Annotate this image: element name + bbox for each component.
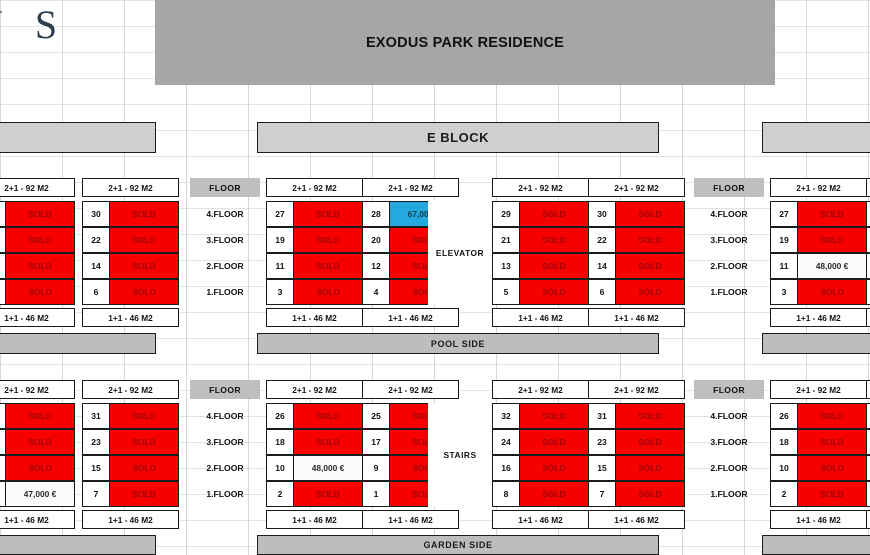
stairs-label: STAIRS xyxy=(428,403,492,507)
garden-strip-right xyxy=(762,535,870,555)
floor-label-cell: 2.FLOOR xyxy=(694,455,764,481)
unit-number-cell[interactable]: 15 xyxy=(82,455,110,481)
unit-number-cell[interactable]: 19 xyxy=(770,227,798,253)
unit-status-sold[interactable]: SOLD xyxy=(5,201,75,227)
unit-status-sold[interactable]: SOLD xyxy=(109,227,179,253)
unit-type-caption-large: 2+1 - 92 M2 xyxy=(362,380,459,399)
unit-type-caption-small: 1+1 - 46 M2 xyxy=(266,308,363,327)
unit-type-caption-large: 2+1 - 92 M2 xyxy=(0,178,75,197)
unit-number-cell[interactable]: 13 xyxy=(492,253,520,279)
unit-status-sold[interactable]: SOLD xyxy=(615,429,685,455)
unit-status-sold[interactable]: SOLD xyxy=(293,429,363,455)
unit-number-cell[interactable]: 12 xyxy=(362,253,390,279)
unit-type-caption-large: 2+1 - 92 M2 xyxy=(770,380,867,399)
unit-status-sold[interactable]: SOLD xyxy=(5,429,75,455)
unit-type-caption-small: 1+1 - 46 M2 xyxy=(82,510,179,529)
unit-number-cell[interactable]: 27 xyxy=(770,201,798,227)
unit-status-sold[interactable]: SOLD xyxy=(109,429,179,455)
unit-number-cell[interactable]: 9 xyxy=(362,455,390,481)
unit-number-cell[interactable]: 24 xyxy=(492,429,520,455)
unit-number-cell[interactable]: 20 xyxy=(362,227,390,253)
unit-type-caption-small: 1+1 - 46 M2 xyxy=(866,510,870,529)
unit-status-sold[interactable]: SOLD xyxy=(797,481,867,507)
garden-side-label: GARDEN SIDE xyxy=(257,535,659,555)
unit-type-caption-small: 1+1 - 46 M2 xyxy=(266,510,363,529)
unit-number-cell[interactable]: 23 xyxy=(82,429,110,455)
unit-number-cell[interactable]: 4 xyxy=(866,279,870,305)
floor-label-cell: 3.FLOOR xyxy=(694,227,764,253)
floor-column-header: FLOOR xyxy=(694,380,764,399)
unit-number-cell[interactable]: 17 xyxy=(362,429,390,455)
unit-number-cell[interactable]: 31 xyxy=(588,403,616,429)
unit-number-cell[interactable]: 8 xyxy=(492,481,520,507)
elevator-label: ELEVATOR xyxy=(428,201,492,305)
unit-status-sold[interactable]: SOLD xyxy=(5,403,75,429)
unit-type-caption-large: 2+1 - 92 M2 xyxy=(492,178,589,197)
unit-number-cell[interactable]: 4 xyxy=(362,279,390,305)
unit-type-caption-small: 1+1 - 46 M2 xyxy=(770,308,867,327)
unit-status-sold[interactable]: SOLD xyxy=(797,455,867,481)
spreadsheet-canvas: U S EXODUS PARK RESIDENCE E BLOCK29SOLD2… xyxy=(0,0,870,555)
floor-label-cell: 1.FLOOR xyxy=(694,279,764,305)
unit-number-cell[interactable]: 15 xyxy=(588,455,616,481)
unit-number-cell[interactable]: 3 xyxy=(770,279,798,305)
floor-label-cell: 4.FLOOR xyxy=(694,201,764,227)
unit-type-caption-small: 1+1 - 46 M2 xyxy=(770,510,867,529)
unit-type-caption-small: 1+1 - 46 M2 xyxy=(0,510,75,529)
floor-label-cell: 3.FLOOR xyxy=(190,227,260,253)
unit-status-sold[interactable]: SOLD xyxy=(519,481,589,507)
block-header xyxy=(762,122,870,153)
unit-status-sold[interactable]: SOLD xyxy=(615,227,685,253)
unit-number-cell[interactable]: 29 xyxy=(492,201,520,227)
floor-label-cell: 2.FLOOR xyxy=(190,455,260,481)
unit-type-caption-small: 1+1 - 46 M2 xyxy=(588,308,685,327)
unit-number-cell[interactable]: 27 xyxy=(266,201,294,227)
floor-label-cell: 2.FLOOR xyxy=(190,253,260,279)
floor-label-cell: 4.FLOOR xyxy=(694,403,764,429)
block-header xyxy=(0,122,156,153)
floor-label-cell: 3.FLOOR xyxy=(694,429,764,455)
unit-status-sold[interactable]: SOLD xyxy=(109,279,179,305)
unit-number-cell[interactable]: 5 xyxy=(492,279,520,305)
unit-type-caption-large: 2+1 - 92 M2 xyxy=(266,178,363,197)
unit-status-sold[interactable]: SOLD xyxy=(519,403,589,429)
unit-number-cell[interactable]: 10 xyxy=(266,455,294,481)
floor-label-cell: 1.FLOOR xyxy=(694,481,764,507)
unit-number-cell[interactable]: 17 xyxy=(866,429,870,455)
unit-type-caption-large: 2+1 - 92 M2 xyxy=(362,178,459,197)
unit-status-sold[interactable]: SOLD xyxy=(519,253,589,279)
floor-column-header: FLOOR xyxy=(190,178,260,197)
unit-status-sold[interactable]: SOLD xyxy=(615,253,685,279)
unit-number-cell[interactable]: 28 xyxy=(362,201,390,227)
unit-number-cell[interactable]: 3 xyxy=(266,279,294,305)
unit-status-sold[interactable]: SOLD xyxy=(109,253,179,279)
unit-status-sold[interactable]: SOLD xyxy=(797,429,867,455)
unit-type-caption-large: 2+1 - 92 M2 xyxy=(82,380,179,399)
unit-status-sold[interactable]: SOLD xyxy=(293,481,363,507)
block-header-e-block: E BLOCK xyxy=(257,122,659,153)
unit-number-cell[interactable]: 25 xyxy=(362,403,390,429)
unit-type-caption-small: 1+1 - 46 M2 xyxy=(492,510,589,529)
unit-number-cell[interactable]: 18 xyxy=(770,429,798,455)
unit-number-cell[interactable]: 23 xyxy=(588,429,616,455)
unit-type-caption-large: 2+1 - 92 M2 xyxy=(492,380,589,399)
unit-type-caption-small: 1+1 - 46 M2 xyxy=(492,308,589,327)
unit-number-cell[interactable]: 14 xyxy=(588,253,616,279)
unit-status-sold[interactable]: SOLD xyxy=(519,279,589,305)
unit-type-caption-large: 2+1 - 92 M2 xyxy=(588,380,685,399)
unit-status-sold[interactable]: SOLD xyxy=(615,201,685,227)
unit-type-caption-large: 2+1 - 92 M2 xyxy=(0,380,75,399)
floor-column-header: FLOOR xyxy=(694,178,764,197)
unit-number-cell[interactable]: 25 xyxy=(866,403,870,429)
unit-status-sold[interactable]: SOLD xyxy=(293,227,363,253)
pool-side-label: POOL SIDE xyxy=(257,333,659,354)
unit-number-cell[interactable]: 9 xyxy=(866,455,870,481)
unit-status-sold[interactable]: SOLD xyxy=(109,455,179,481)
unit-number-cell[interactable]: 7 xyxy=(82,481,110,507)
unit-status-sold[interactable]: SOLD xyxy=(293,253,363,279)
unit-number-cell[interactable]: 7 xyxy=(588,481,616,507)
page-title: EXODUS PARK RESIDENCE xyxy=(366,35,564,51)
floor-label-cell: 4.FLOOR xyxy=(190,403,260,429)
title-banner: EXODUS PARK RESIDENCE xyxy=(155,0,775,85)
unit-type-caption-large: 2+1 - 92 M2 xyxy=(866,178,870,197)
unit-number-cell[interactable]: 11 xyxy=(770,253,798,279)
unit-status-sold[interactable]: SOLD xyxy=(519,227,589,253)
unit-number-cell[interactable]: 6 xyxy=(588,279,616,305)
floor-label-cell: 3.FLOOR xyxy=(190,429,260,455)
unit-status-sold[interactable]: SOLD xyxy=(109,481,179,507)
side-strip-right xyxy=(762,333,870,354)
unit-number-cell[interactable]: 12 xyxy=(866,253,870,279)
unit-type-caption-large: 2+1 - 92 M2 xyxy=(588,178,685,197)
unit-number-cell[interactable]: 2 xyxy=(770,481,798,507)
unit-status-sold[interactable]: SOLD xyxy=(519,455,589,481)
floor-label-cell: 1.FLOOR xyxy=(190,481,260,507)
unit-number-cell[interactable]: 31 xyxy=(82,403,110,429)
unit-type-caption-large: 2+1 - 92 M2 xyxy=(82,178,179,197)
unit-status-sold[interactable]: SOLD xyxy=(109,403,179,429)
unit-type-caption-small: 1+1 - 46 M2 xyxy=(588,510,685,529)
unit-number-cell[interactable]: 6 xyxy=(82,279,110,305)
unit-number-cell[interactable]: 1 xyxy=(362,481,390,507)
unit-status-sold[interactable]: SOLD xyxy=(797,403,867,429)
unit-status-sold[interactable]: SOLD xyxy=(293,403,363,429)
unit-status-sold[interactable]: SOLD xyxy=(519,429,589,455)
unit-status-sold[interactable]: SOLD xyxy=(615,279,685,305)
unit-number-cell[interactable]: 28 xyxy=(866,201,870,227)
unit-number-cell[interactable]: 26 xyxy=(770,403,798,429)
unit-type-caption-large: 2+1 - 92 M2 xyxy=(266,380,363,399)
unit-status-available[interactable]: 48,000 € xyxy=(293,455,363,481)
unit-type-caption-small: 1+1 - 46 M2 xyxy=(866,308,870,327)
unit-number-cell[interactable]: 10 xyxy=(770,455,798,481)
unit-number-cell[interactable]: 30 xyxy=(588,201,616,227)
unit-status-sold[interactable]: SOLD xyxy=(519,201,589,227)
unit-number-cell[interactable]: 2 xyxy=(266,481,294,507)
unit-type-caption-small: 1+1 - 46 M2 xyxy=(362,510,459,529)
garden-strip-left xyxy=(0,535,156,555)
unit-status-sold[interactable]: SOLD xyxy=(5,227,75,253)
unit-status-available[interactable]: 47,000 € xyxy=(5,481,75,507)
unit-number-cell[interactable]: 18 xyxy=(266,429,294,455)
unit-number-cell[interactable]: 20 xyxy=(866,227,870,253)
unit-number-cell[interactable]: 1 xyxy=(866,481,870,507)
unit-status-sold[interactable]: SOLD xyxy=(615,481,685,507)
unit-number-cell[interactable]: 14 xyxy=(82,253,110,279)
unit-number-cell[interactable]: 30 xyxy=(82,201,110,227)
unit-number-cell[interactable]: 22 xyxy=(82,227,110,253)
unit-status-available[interactable]: 48,000 € xyxy=(797,253,867,279)
floor-label-cell: 1.FLOOR xyxy=(190,279,260,305)
unit-number-cell[interactable]: 32 xyxy=(492,403,520,429)
unit-type-caption-large: 2+1 - 92 M2 xyxy=(866,380,870,399)
unit-status-sold[interactable]: SOLD xyxy=(615,403,685,429)
unit-type-caption-small: 1+1 - 46 M2 xyxy=(82,308,179,327)
unit-status-sold[interactable]: SOLD xyxy=(5,455,75,481)
unit-status-sold[interactable]: SOLD xyxy=(5,279,75,305)
floor-label-cell: 2.FLOOR xyxy=(694,253,764,279)
unit-number-cell[interactable]: 16 xyxy=(492,455,520,481)
company-logo: U S xyxy=(0,2,144,48)
unit-status-sold[interactable]: SOLD xyxy=(797,201,867,227)
unit-status-sold[interactable]: SOLD xyxy=(615,455,685,481)
floor-column-header: FLOOR xyxy=(190,380,260,399)
side-strip-left xyxy=(0,333,156,354)
unit-status-sold[interactable]: SOLD xyxy=(293,201,363,227)
unit-type-caption-small: 1+1 - 46 M2 xyxy=(0,308,75,327)
floor-label-cell: 4.FLOOR xyxy=(190,201,260,227)
unit-status-sold[interactable]: SOLD xyxy=(5,253,75,279)
unit-status-sold[interactable]: SOLD xyxy=(797,227,867,253)
unit-status-sold[interactable]: SOLD xyxy=(293,279,363,305)
unit-number-cell[interactable]: 21 xyxy=(492,227,520,253)
unit-status-sold[interactable]: SOLD xyxy=(797,279,867,305)
unit-number-cell[interactable]: 22 xyxy=(588,227,616,253)
unit-number-cell[interactable]: 11 xyxy=(266,253,294,279)
unit-status-sold[interactable]: SOLD xyxy=(109,201,179,227)
unit-type-caption-small: 1+1 - 46 M2 xyxy=(362,308,459,327)
unit-number-cell[interactable]: 26 xyxy=(266,403,294,429)
unit-number-cell[interactable]: 19 xyxy=(266,227,294,253)
unit-type-caption-large: 2+1 - 92 M2 xyxy=(770,178,867,197)
